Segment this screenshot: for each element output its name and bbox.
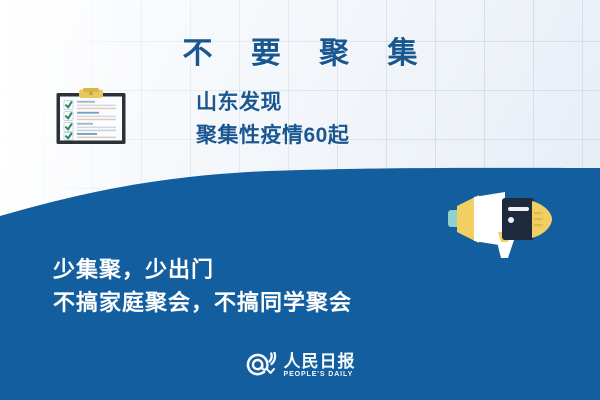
at-sign-wifi-icon bbox=[245, 352, 279, 378]
publisher-logo: 人民日报 PEOPLE'S DAILY bbox=[0, 352, 600, 378]
slogan-block: 少集聚，少出门 不搞家庭聚会，不搞同学聚会 bbox=[53, 253, 352, 319]
megaphone-icon bbox=[448, 186, 552, 258]
slogan-line-2: 不搞家庭聚会，不搞同学聚会 bbox=[53, 286, 352, 319]
publisher-logo-text: 人民日报 PEOPLE'S DAILY bbox=[284, 353, 356, 378]
publisher-logo-inner: 人民日报 PEOPLE'S DAILY bbox=[245, 352, 356, 378]
slogan-line-1: 少集聚，少出门 bbox=[53, 253, 352, 286]
publisher-name-en: PEOPLE'S DAILY bbox=[284, 371, 354, 378]
publisher-name-cn: 人民日报 bbox=[284, 353, 356, 370]
poster-canvas: 不 要 聚 集 bbox=[0, 0, 600, 400]
